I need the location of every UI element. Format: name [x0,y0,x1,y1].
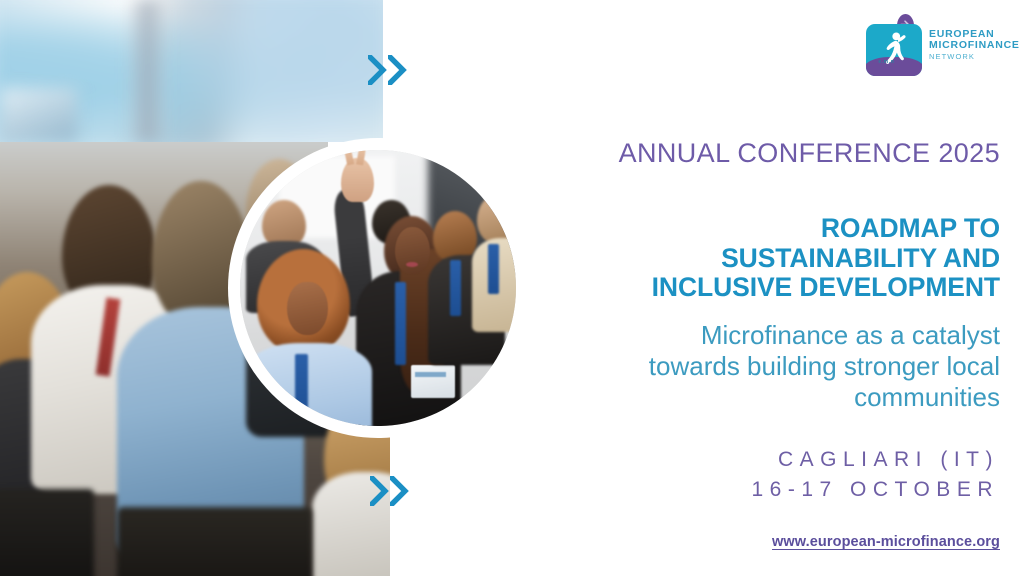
circle-speaker-face [395,227,431,274]
circle-foreground-blue-shirt [246,343,373,426]
headline: ROADMAP TO SUSTAINABILITY AND INCLUSIVE … [540,214,1000,303]
photo-top-left-conference-room [0,0,383,142]
double-chevron-right-icon-top [368,55,407,85]
circle-photo-frame [228,138,528,438]
tagline-line-3: communities [540,382,1000,413]
photo-circle-woman-raising-hand [240,150,516,426]
kicker-annual-conference: ANNUAL CONFERENCE 2025 [619,138,1000,169]
photo-top-pillar [126,0,168,142]
event-dates: 16-17 OCTOBER [539,475,999,505]
circle-foreground-lanyard [295,354,307,426]
double-chevron-right-icon-bottom [370,476,409,506]
circle-attendee-head-far-right [477,194,516,244]
tagline: Microfinance as a catalyst towards build… [540,320,1000,414]
tagline-line-1: Microfinance as a catalyst [540,320,1000,351]
tagline-line-2: towards building stronger local [540,351,1000,382]
chair-center [117,507,312,576]
photo-top-foreground-panel [0,88,77,142]
venue-city: CAGLIARI (IT) [539,445,999,475]
circle-foreground-face [287,282,328,334]
circle-speaker-badge [411,365,455,398]
headline-line-3: INCLUSIVE DEVELOPMENT [540,273,1000,303]
circle-attendee-lanyard-right [450,260,461,315]
circle-raised-hand [341,158,374,202]
website-link[interactable]: www.european-microfinance.org [772,534,1000,550]
conference-poster: e.m.n EUROPEAN MICROFINANCE NETWORK ANNU… [0,0,1024,576]
text-panel: ANNUAL CONFERENCE 2025 ROADMAP TO SUSTAI… [520,0,1024,576]
circle-attendee-lanyard-far-right [488,244,499,294]
venue-and-date: CAGLIARI (IT) 16-17 OCTOBER [539,445,999,505]
chair-left [0,489,94,576]
headline-line-2: SUSTAINABILITY AND [540,244,1000,274]
headline-line-1: ROADMAP TO [540,214,1000,244]
circle-speaker-lanyard [395,282,406,365]
